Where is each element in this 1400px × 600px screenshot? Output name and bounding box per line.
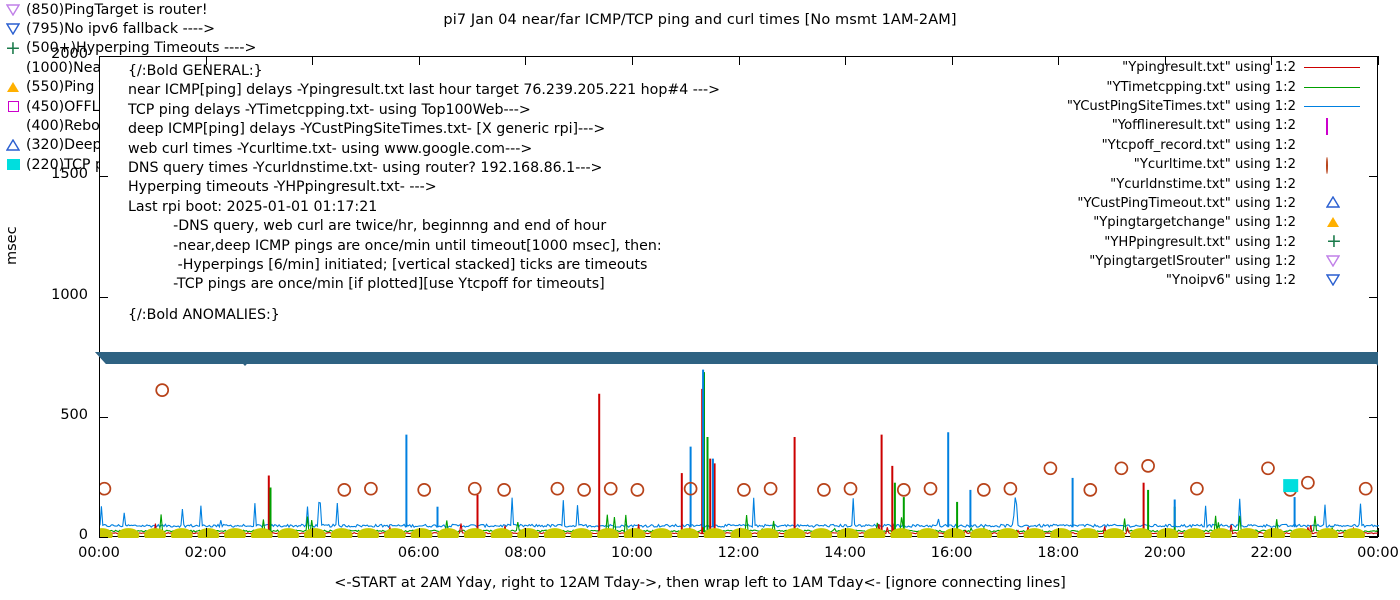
x-tick-mark — [1271, 528, 1272, 537]
x-tick-mark — [206, 528, 207, 537]
y-tick-label: 500 — [18, 407, 88, 423]
triangle-down-open-icon — [1326, 255, 1340, 267]
curl-time-marker — [1302, 477, 1314, 489]
legend-item: "YpingtargetISrouter" using 1:2 — [960, 252, 1360, 271]
dns-time-marker — [411, 528, 433, 538]
curl-time-marker — [631, 484, 643, 496]
y-tick-mark — [1369, 297, 1378, 298]
curl-time-marker — [156, 384, 168, 396]
legend-symbol-swatch: + — [1326, 235, 1342, 251]
dns-time-marker — [1210, 528, 1232, 538]
x-tick-mark — [99, 528, 100, 537]
triangle-down-open-icon — [6, 4, 20, 16]
x-tick-mark — [99, 56, 100, 65]
legend-item-label: "YCustPingTimeout.txt" using 1:2 — [1077, 196, 1296, 211]
anomaly-item-key — [0, 101, 26, 112]
legend-item-key — [1304, 176, 1360, 192]
x-tick-label: 10:00 — [597, 545, 667, 561]
legend-item-label: "Ynoipv6" using 1:2 — [1166, 273, 1296, 288]
legend-symbol-swatch — [1326, 158, 1328, 173]
dns-time-marker — [1183, 528, 1205, 538]
x-tick-mark — [632, 528, 633, 537]
x-tick-label: 20:00 — [1130, 545, 1200, 561]
dns-time-marker — [1050, 528, 1072, 538]
curl-time-marker — [1262, 462, 1274, 474]
x-tick-label: 18:00 — [1023, 545, 1093, 561]
legend-item: "Ycurldnstime.txt" using 1:2 — [960, 174, 1360, 193]
y-tick-mark — [99, 417, 108, 418]
x-tick-label: 02:00 — [171, 545, 241, 561]
y-tick-label: 0 — [18, 527, 88, 543]
legend-item-key — [1304, 273, 1360, 289]
square-open-icon — [8, 101, 19, 112]
plus-icon: + — [1326, 230, 1342, 252]
legend-item-label: "Ypingtargetchange" using 1:2 — [1093, 215, 1296, 230]
y-tick-mark — [99, 176, 108, 177]
curl-time-marker — [1084, 484, 1096, 496]
dns-time-marker — [650, 528, 672, 538]
curl-time-marker — [551, 483, 563, 495]
dns-time-marker — [1237, 528, 1259, 538]
x-tick-mark — [952, 528, 953, 537]
chart-title: pi7 Jan 04 near/far ICMP/TCP ping and cu… — [0, 12, 1400, 28]
curl-time-marker — [845, 483, 857, 495]
series-trace — [100, 498, 1379, 528]
general-line: -Hyperpings [6/min] initiated; [vertical… — [128, 256, 720, 275]
curl-time-marker — [365, 483, 377, 495]
general-line: -DNS query, web curl are twice/hr, begin… — [128, 217, 720, 236]
legend-item: "YHPpingresult.txt" using 1:2+ — [960, 233, 1360, 252]
x-tick-mark — [845, 528, 846, 537]
x-axis-label: <-START at 2AM Yday, right to 12AM Tday-… — [0, 575, 1400, 591]
legend-item: "YCustPingTimeout.txt" using 1:2 — [960, 194, 1360, 213]
legend-item-key — [1304, 157, 1360, 173]
x-tick-mark — [312, 528, 313, 537]
y-tick-mark — [1369, 537, 1378, 538]
dns-time-marker — [331, 528, 353, 538]
y-tick-mark — [99, 56, 108, 57]
dns-time-marker — [197, 528, 219, 538]
dns-time-marker — [1317, 528, 1339, 538]
x-tick-mark — [739, 56, 740, 65]
x-tick-mark — [739, 528, 740, 537]
x-tick-label: 04:00 — [277, 545, 347, 561]
x-tick-label: 12:00 — [704, 545, 774, 561]
legend-item: "Ytcpoff_record.txt" using 1:2 — [960, 136, 1360, 155]
dns-time-marker — [1343, 528, 1365, 538]
dns-time-marker — [517, 528, 539, 538]
curl-time-marker — [1142, 460, 1154, 472]
general-line: Last rpi boot: 2025-01-01 01:17:21 — [128, 198, 720, 217]
x-tick-mark — [1378, 528, 1379, 537]
tcpoff-marker — [1283, 479, 1298, 492]
dns-time-marker — [1077, 528, 1099, 538]
dns-time-marker — [997, 528, 1019, 538]
y-tick-label: 1000 — [18, 287, 88, 303]
anomaly-item-key — [0, 139, 26, 151]
dns-time-marker — [357, 528, 379, 538]
y-tick-mark — [1369, 56, 1378, 57]
curl-time-marker — [469, 483, 481, 495]
legend-item-key — [1304, 60, 1360, 76]
legend-symbol-swatch — [1326, 255, 1340, 267]
dns-time-marker — [784, 528, 806, 538]
y-tick-label: 1500 — [18, 166, 88, 182]
y-tick-mark — [99, 297, 108, 298]
curl-time-marker — [1115, 462, 1127, 474]
general-annotation-block: {/:Bold GENERAL:}near ICMP[ping] delays … — [128, 62, 720, 295]
legend-item-label: "YHPpingresult.txt" using 1:2 — [1104, 235, 1296, 250]
dns-time-marker — [677, 528, 699, 538]
legend-item-key — [1304, 254, 1360, 270]
legend-item-label: "Ypingresult.txt" using 1:2 — [1122, 60, 1296, 75]
x-tick-label: 22:00 — [1236, 545, 1306, 561]
curl-time-marker — [100, 483, 110, 495]
dns-time-marker — [757, 528, 779, 538]
general-line: -TCP pings are once/min [if plotted][use… — [128, 275, 720, 294]
dns-time-marker — [810, 528, 832, 538]
dns-time-marker — [437, 528, 459, 538]
x-tick-mark — [1165, 528, 1166, 537]
general-line: -near,deep ICMP pings are once/min until… — [128, 237, 720, 256]
curl-time-marker — [1191, 483, 1203, 495]
legend-item-label: "Ycurltime.txt" using 1:2 — [1134, 157, 1296, 172]
legend-item-label: "Ytcpoff_record.txt" using 1:2 — [1102, 138, 1296, 153]
square-open-icon — [1326, 118, 1328, 135]
y-tick-mark — [1369, 176, 1378, 177]
dns-time-marker — [464, 528, 486, 538]
legend-symbol-swatch — [1326, 216, 1340, 228]
legend-item: "Yofflineresult.txt" using 1:2 — [960, 116, 1360, 135]
y-tick-label: 2000 — [18, 46, 88, 62]
curl-time-marker — [738, 484, 750, 496]
curl-time-marker — [898, 484, 910, 496]
x-tick-label: 00:00 — [1343, 545, 1400, 561]
dns-time-marker — [224, 528, 246, 538]
general-line: TCP ping delays -YTimetcpping.txt- using… — [128, 101, 720, 120]
legend-line-swatch — [1304, 106, 1360, 107]
legend-item-label: "YpingtargetISrouter" using 1:2 — [1089, 254, 1296, 269]
curl-time-marker — [418, 484, 430, 496]
legend-item: "YCustPingSiteTimes.txt" using 1:2 — [960, 97, 1360, 116]
dns-time-marker — [837, 528, 859, 538]
x-tick-label: 14:00 — [810, 545, 880, 561]
y-tick-mark — [1369, 417, 1378, 418]
dns-time-marker — [730, 528, 752, 538]
curl-time-marker — [498, 484, 510, 496]
anomaly-item-key — [0, 81, 26, 93]
legend: "Ypingresult.txt" using 1:2"YTimetcpping… — [960, 58, 1360, 291]
dns-time-marker — [1263, 528, 1285, 538]
general-line: Hyperping timeouts -YHPpingresult.txt- -… — [128, 178, 720, 197]
triangle-up-filled-icon — [1326, 216, 1340, 228]
legend-item-key — [1304, 118, 1360, 134]
x-tick-mark — [845, 56, 846, 65]
general-line: DNS query times -Ycurldnstime.txt- using… — [128, 159, 720, 178]
general-line: near ICMP[ping] delays -Ypingresult.txt … — [128, 81, 720, 100]
legend-item-key — [1304, 98, 1360, 114]
dns-time-marker — [171, 528, 193, 538]
legend-item-key: + — [1304, 234, 1360, 250]
curl-time-marker — [578, 484, 590, 496]
x-tick-label: 16:00 — [917, 545, 987, 561]
triangle-up-open-icon — [6, 139, 20, 151]
anomalies-heading: {/:Bold ANOMALIES:} — [128, 306, 280, 325]
x-tick-mark — [1058, 528, 1059, 537]
general-line: deep ICMP[ping] delays -YCustPingSiteTim… — [128, 120, 720, 139]
legend-item-label: "Yofflineresult.txt" using 1:2 — [1112, 118, 1296, 133]
legend-item-key — [1304, 215, 1360, 231]
x-tick-mark — [952, 56, 953, 65]
legend-item: "Ynoipv6" using 1:2 — [960, 271, 1360, 290]
x-tick-label: 08:00 — [490, 545, 560, 561]
x-tick-label: 06:00 — [384, 545, 454, 561]
legend-symbol-swatch — [1326, 196, 1340, 208]
legend-item-label: "Ycurldnstime.txt" using 1:2 — [1110, 177, 1296, 192]
curl-time-marker — [765, 483, 777, 495]
dns-time-marker — [117, 528, 139, 538]
dns-time-marker — [304, 528, 326, 538]
legend-line-swatch — [1304, 87, 1360, 88]
general-line: web curl times -Ycurltime.txt- using www… — [128, 140, 720, 159]
dns-time-marker — [544, 528, 566, 538]
legend-item-label: "YTimetcpping.txt" using 1:2 — [1106, 80, 1296, 95]
legend-symbol-swatch — [1326, 119, 1328, 134]
dns-time-marker — [570, 528, 592, 538]
curl-time-marker — [1044, 462, 1056, 474]
dns-time-marker — [970, 528, 992, 538]
triangle-down-open-icon — [1326, 274, 1340, 286]
circle-open-icon — [1326, 157, 1328, 174]
curl-time-marker — [818, 484, 830, 496]
legend-item-key — [1304, 195, 1360, 211]
dns-time-marker — [491, 528, 513, 538]
legend-item: "Ypingtargetchange" using 1:2 — [960, 213, 1360, 232]
curl-time-marker — [1360, 483, 1372, 495]
dns-time-marker — [1103, 528, 1125, 538]
general-heading: {/:Bold GENERAL:} — [128, 62, 720, 81]
dns-time-marker — [384, 528, 406, 538]
curl-time-marker — [605, 483, 617, 495]
curl-time-marker — [978, 484, 990, 496]
dns-time-marker — [943, 528, 965, 538]
x-tick-mark — [525, 528, 526, 537]
legend-item-label: "YCustPingSiteTimes.txt" using 1:2 — [1067, 99, 1296, 114]
legend-item-key — [1304, 137, 1360, 153]
legend-line-swatch — [1304, 67, 1360, 68]
curl-time-marker — [1004, 483, 1016, 495]
y-axis-label: msec — [4, 226, 20, 265]
legend-item: "Ycurltime.txt" using 1:2 — [960, 155, 1360, 174]
triangle-up-open-icon — [1326, 196, 1340, 208]
triangle-down-open-icon — [6, 23, 20, 35]
x-tick-mark — [419, 528, 420, 537]
legend-item-key — [1304, 79, 1360, 95]
x-tick-label: 00:00 — [64, 545, 134, 561]
curl-time-marker — [925, 483, 937, 495]
curl-time-marker — [338, 484, 350, 496]
legend-item: "YTimetcpping.txt" using 1:2 — [960, 77, 1360, 96]
triangle-up-filled-icon — [6, 81, 20, 93]
legend-symbol-swatch — [1326, 274, 1340, 286]
y-tick-mark — [99, 537, 108, 538]
x-tick-mark — [1378, 56, 1379, 65]
legend-item: "Ypingresult.txt" using 1:2 — [960, 58, 1360, 77]
